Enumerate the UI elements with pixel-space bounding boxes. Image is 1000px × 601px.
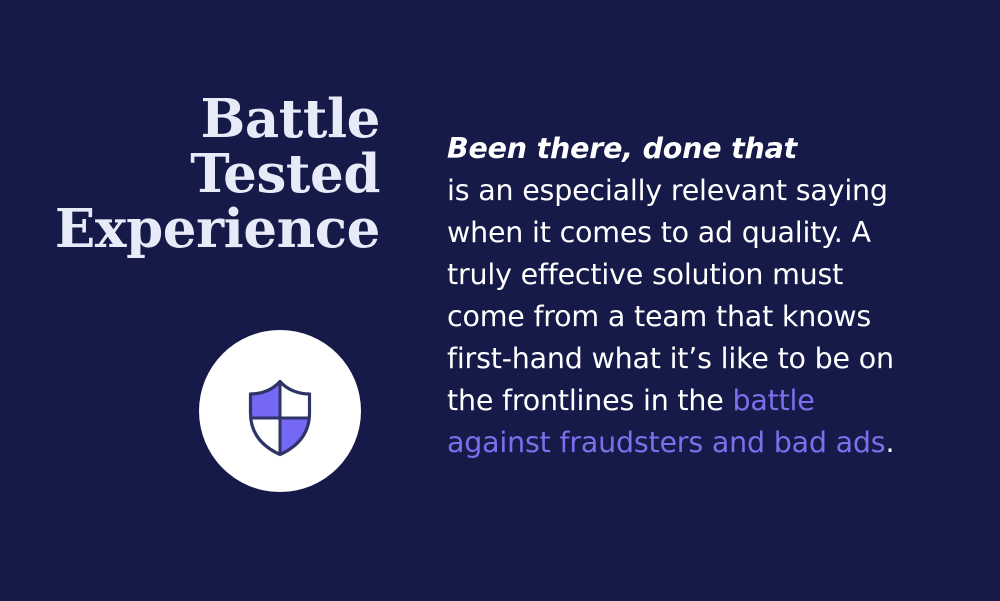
body-line-3: truly effective solution must <box>447 254 917 296</box>
page-title-line-1: Battle <box>0 92 380 147</box>
body-line-5: first-hand what it’s like to be on <box>447 338 917 380</box>
left-column: Battle Tested Experience <box>0 0 400 601</box>
page-title: Battle Tested Experience <box>0 92 380 257</box>
shield-icon <box>248 379 312 457</box>
body-line-6: the frontlines in the battle <box>447 380 917 422</box>
body-line-4: come from a team that knows <box>447 296 917 338</box>
shield-badge <box>199 330 361 492</box>
accent-text-part-1: battle <box>732 384 814 417</box>
body-copy: Been there, done that is an especially r… <box>447 128 917 464</box>
body-lead: Been there, done that <box>447 128 917 170</box>
page-title-line-2: Tested <box>0 147 380 202</box>
accent-text-part-2: against fraudsters and bad ads <box>447 426 885 459</box>
slide-canvas: Battle Tested Experience <box>0 0 1000 601</box>
body-line-7: against fraudsters and bad ads. <box>447 422 917 464</box>
body-end-punctuation: . <box>885 426 894 459</box>
page-title-line-3: Experience <box>0 202 380 257</box>
body-line-6-text: the frontlines in the <box>447 384 732 417</box>
body-line-1: is an especially relevant saying <box>447 170 917 212</box>
body-line-2: when it comes to ad quality. A <box>447 212 917 254</box>
